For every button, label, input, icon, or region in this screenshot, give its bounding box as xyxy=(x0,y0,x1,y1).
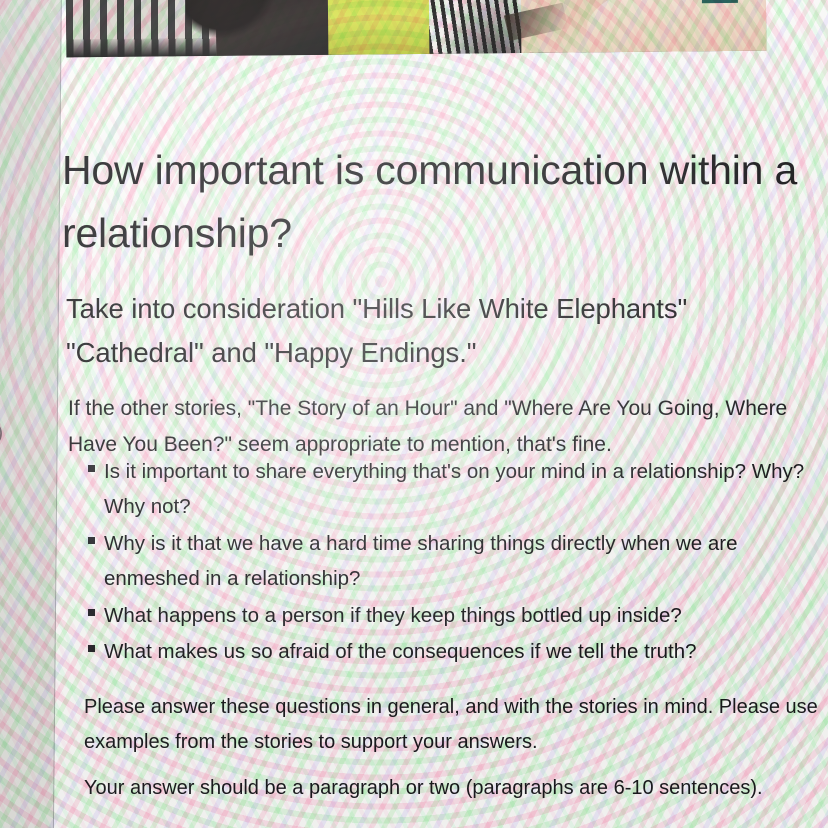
photo-yellow-region xyxy=(328,0,434,55)
assignment-intro-paragraph: If the other stories, "The Story of an H… xyxy=(68,391,818,463)
assignment-instructions-paragraph: Please answer these questions in general… xyxy=(84,690,824,760)
photo-skin-highlight-region xyxy=(586,0,767,56)
photographed-screen: How important is communication within a … xyxy=(0,0,828,828)
bullet-square-icon xyxy=(88,537,95,544)
list-item-text: Why is it that we have a hard time shari… xyxy=(104,532,738,590)
bullet-square-icon xyxy=(88,609,95,616)
list-item: Why is it that we have a hard time shari… xyxy=(68,526,828,597)
photo-hair-region xyxy=(186,0,277,38)
top-photo-strip xyxy=(66,0,767,57)
list-item: What makes us so afraid of the consequen… xyxy=(68,634,828,669)
assignment-subtitle: Take into consideration "Hills Like Whit… xyxy=(66,287,806,377)
list-item-text: What makes us so afraid of the consequen… xyxy=(104,640,697,663)
margin-note: i) xyxy=(0,422,3,445)
document-card: How important is communication within a … xyxy=(54,0,828,828)
assignment-length-paragraph: Your answer should be a paragraph or two… xyxy=(84,771,804,806)
list-item: What happens to a person if they keep th… xyxy=(68,598,828,633)
bullet-square-icon xyxy=(88,465,95,472)
list-item-text: What happens to a person if they keep th… xyxy=(104,604,682,627)
bullet-square-icon xyxy=(88,645,95,652)
list-item: Is it important to share everything that… xyxy=(68,454,828,525)
question-list: Is it important to share everything that… xyxy=(68,454,828,671)
photo-teal-region xyxy=(701,0,737,3)
page-title: How important is communication within a … xyxy=(62,139,828,264)
list-item-text: Is it important to share everything that… xyxy=(104,460,804,518)
